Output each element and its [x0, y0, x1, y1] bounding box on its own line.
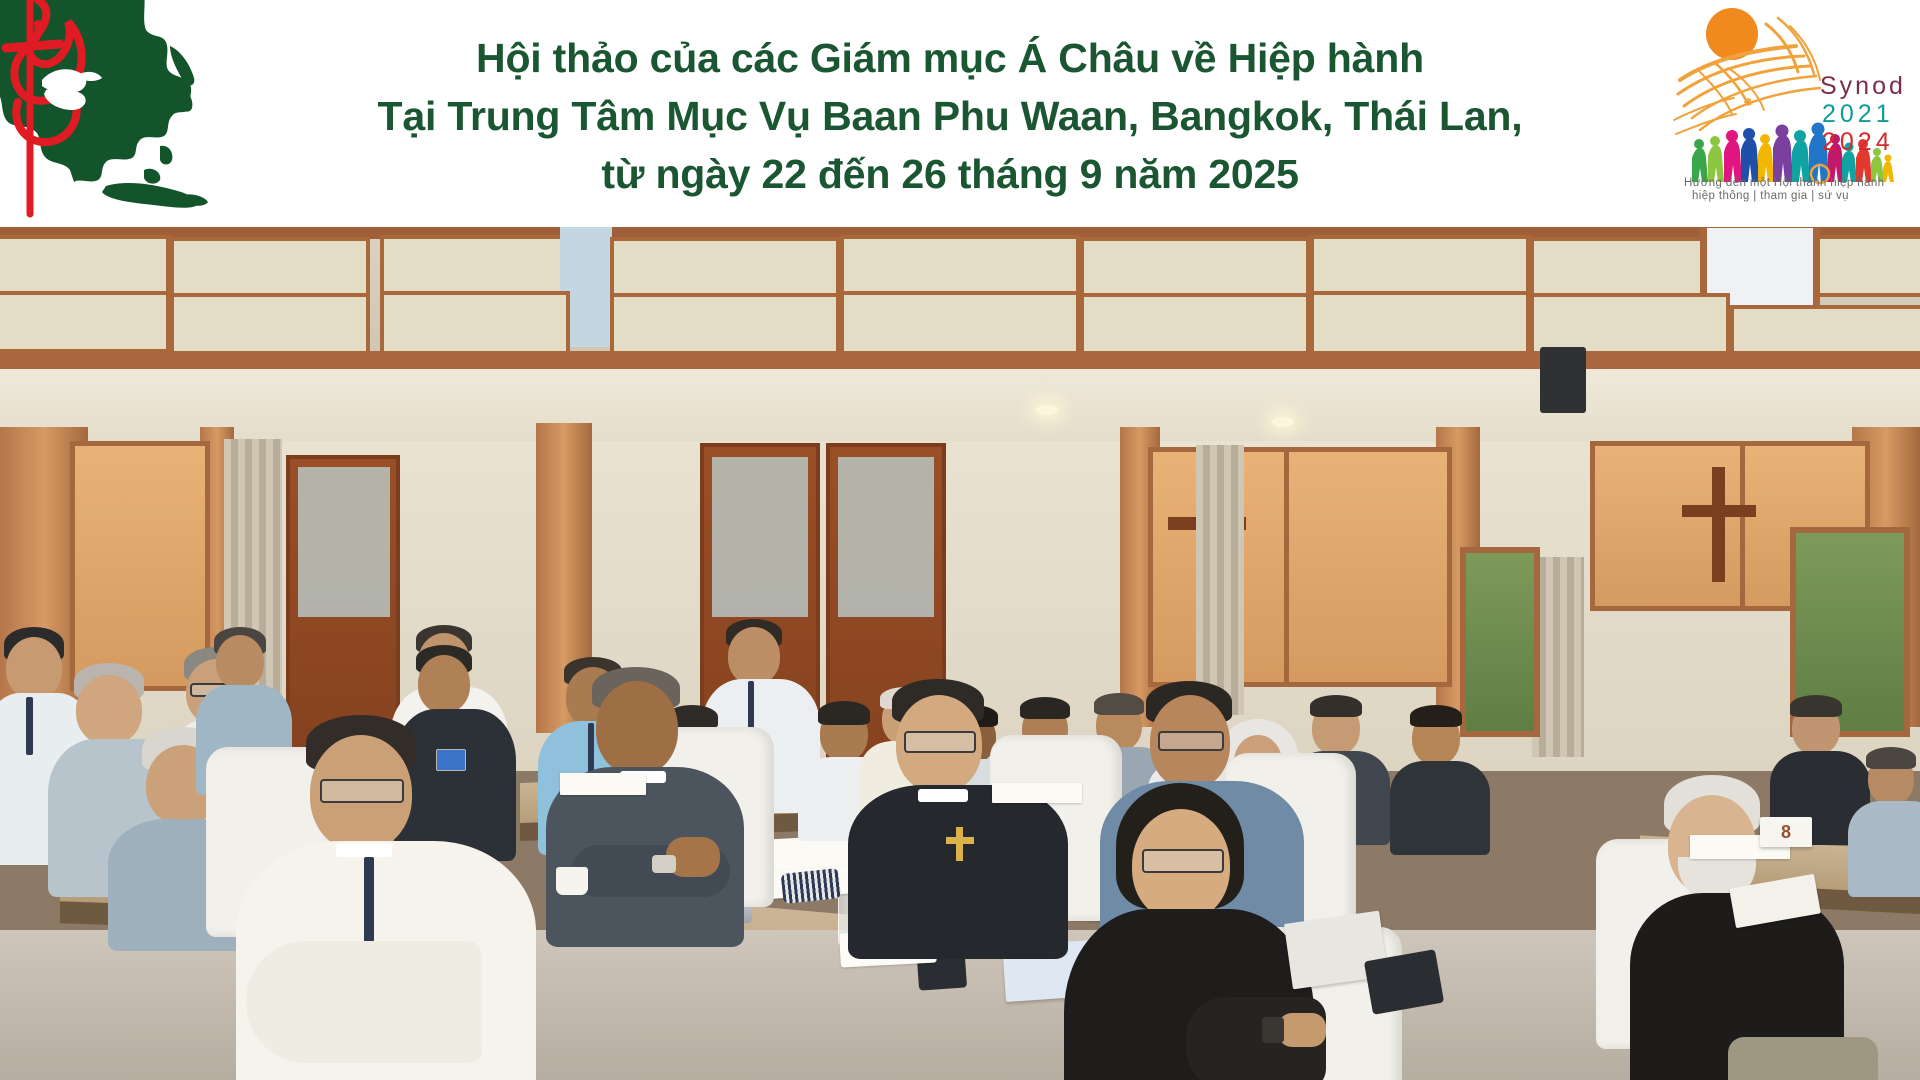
title-line-3: từ ngày 22 đến 26 tháng 9 năm 2025: [601, 145, 1298, 203]
participant-bishop: [852, 679, 1072, 959]
participant-foreground-left: [236, 715, 536, 1080]
arm: [246, 941, 482, 1063]
title-line-2: Tại Trung Tâm Mục Vụ Baan Phu Waan, Bang…: [378, 87, 1523, 145]
clerestory-panel: [1530, 293, 1730, 355]
participant: [1390, 705, 1490, 855]
conference-hall-photo: 7: [0, 227, 1920, 1080]
wristwatch: [1262, 1017, 1284, 1043]
synod-tagline-line-2: hiệp thông | tham gia | sứ vụ: [1692, 190, 1849, 202]
eyeglasses: [904, 731, 976, 753]
pectoral-cross-vertical: [956, 827, 963, 861]
head: [596, 681, 678, 775]
ceiling-light: [1272, 417, 1294, 427]
hair: [1790, 695, 1842, 717]
head: [418, 655, 470, 713]
paper-stack[interactable]: [560, 773, 646, 795]
hair: [1310, 695, 1362, 717]
clerestory-panel: [1310, 291, 1530, 357]
wood-wall-panel: [1590, 441, 1750, 611]
eyeglasses: [1142, 849, 1224, 873]
torso: [1848, 801, 1920, 897]
ceiling-light: [1036, 405, 1058, 415]
clerical-collar: [336, 843, 392, 857]
eyeglasses: [320, 779, 404, 803]
synod-logo: Synod 2021 2024 Hướng đến một Hội thánh …: [1670, 0, 1920, 227]
hand: [1278, 1013, 1326, 1047]
clerical-collar: [918, 789, 968, 802]
paper-stack[interactable]: [992, 783, 1082, 803]
clerestory-panel: [170, 293, 370, 355]
torso: [848, 785, 1068, 959]
wood-wall-panel: [1284, 447, 1452, 687]
title-line-1: Hội thảo của các Giám mục Á Châu về Hiệp…: [476, 29, 1424, 87]
trousers: [1728, 1037, 1878, 1080]
clerestory-panel: [610, 293, 840, 357]
door-glass-panel: [712, 457, 808, 617]
wristwatch: [652, 855, 676, 873]
synod-tagline-line-1: Hướng đến một Hội thánh hiệp hành: [1684, 177, 1884, 189]
wall-cross-horizontal: [1682, 505, 1756, 517]
wall-speaker: [1540, 347, 1586, 413]
cup: [556, 867, 588, 895]
clerestory-panel: [380, 235, 570, 299]
table-number-card: 8: [1760, 817, 1812, 847]
hair: [1410, 705, 1462, 727]
synod-emblem-icon: Synod 2021 2024 Hướng đến một Hội thánh …: [1670, 2, 1920, 202]
synod-year-start: 2021: [1822, 100, 1894, 128]
hair: [1866, 747, 1916, 769]
door-glass-panel: [838, 457, 934, 617]
pectoral-cross-horizontal: [946, 837, 974, 844]
page-root: Hội thảo của các Giám mục Á Châu về Hiệp…: [0, 0, 1920, 1080]
participant: [1848, 747, 1920, 897]
head: [6, 637, 62, 699]
lanyard: [26, 697, 33, 755]
eyeglasses: [1158, 731, 1224, 751]
door-glass-panel: [298, 467, 390, 617]
asia-map-icon: [0, 0, 234, 219]
clerestory-panel: [840, 291, 1080, 357]
event-banner: Hội thảo của các Giám mục Á Châu về Hiệp…: [0, 0, 1920, 227]
window-curtain: [1196, 445, 1244, 715]
lanyard: [748, 681, 754, 731]
clerestory-panel: [1080, 293, 1310, 357]
soffit-wall: [0, 369, 1920, 447]
wall-cross-vertical: [1712, 467, 1725, 582]
head: [216, 635, 264, 689]
clerestory-panel: [380, 291, 570, 355]
banner-title-block: Hội thảo của các Giám mục Á Châu về Hiệp…: [230, 0, 1670, 227]
clerestory-panel: [0, 291, 170, 353]
lanyard: [364, 857, 374, 943]
clerestory-panel: [170, 237, 370, 299]
fabc-logo: [0, 0, 230, 227]
synod-word: Synod: [1820, 72, 1906, 100]
torso: [1390, 761, 1490, 855]
striped-cloth: [781, 868, 842, 904]
participant-foreground-centre: [548, 667, 748, 947]
clerestory-panel: [1730, 305, 1920, 355]
synod-year-end: 2024: [1822, 128, 1894, 156]
clerestory-panel: [0, 235, 170, 295]
mid-beam: [0, 351, 1920, 369]
